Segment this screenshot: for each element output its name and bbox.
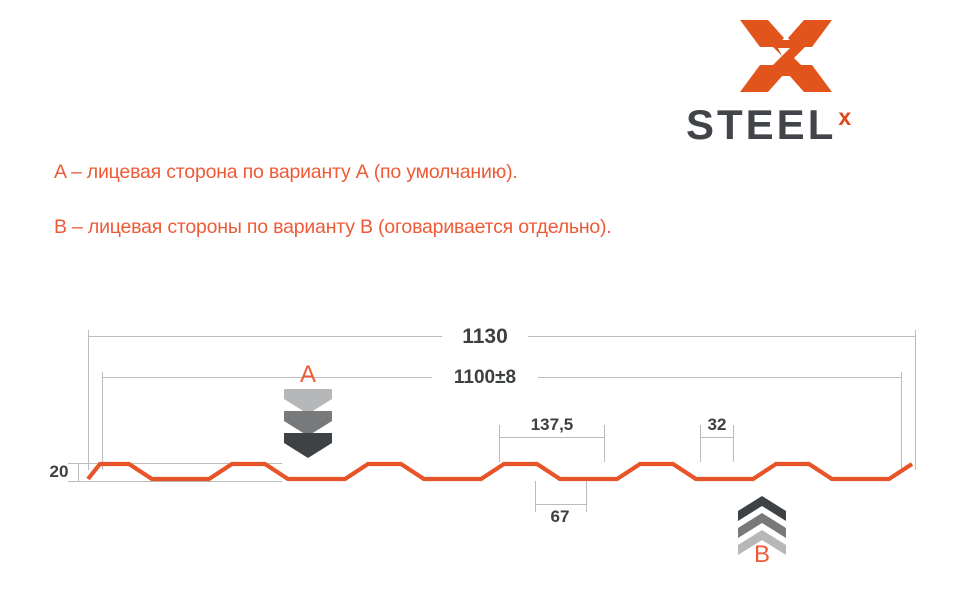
marker-a-chevrons-group [284,389,332,458]
profile-drawing [0,0,970,597]
dimension-label-useful-width: 1100±8 [430,367,540,389]
dimension-label-total-width: 1130 [440,325,530,349]
drawing-page: STEEL x A – лицевая сторона по варианту … [0,0,970,597]
sheet-profile-path [88,464,912,479]
chevron-down-icon-2 [284,411,332,436]
marker-letter-b: B [744,541,780,569]
dimension-label-profile-height: 20 [44,462,74,482]
chevron-down-icon-1 [284,389,332,414]
dimension-label-crest-width: 32 [698,415,736,435]
dimension-label-wave-pitch: 137,5 [506,415,598,435]
chevron-down-icon-3 [284,433,332,458]
dimension-label-valley-width: 67 [534,507,586,527]
marker-letter-a: A [290,361,326,389]
